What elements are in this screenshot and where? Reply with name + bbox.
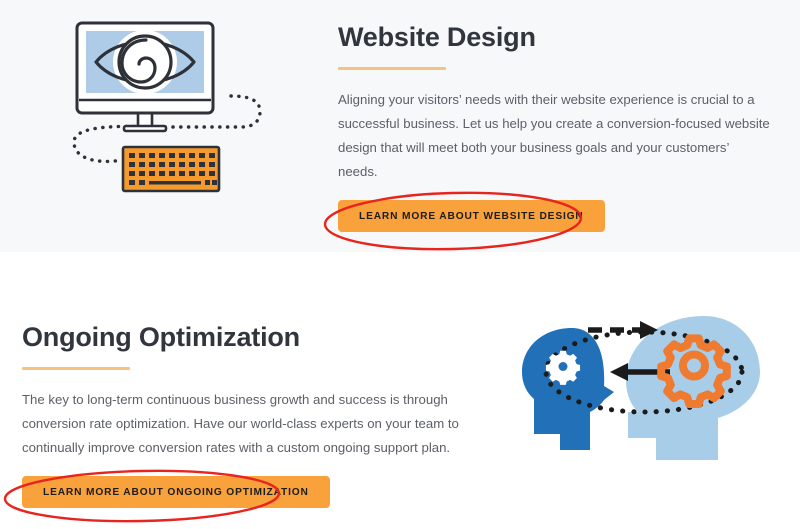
learn-more-ongoing-optimization-button[interactable]: Learn More About Ongoing Optimization [22,476,330,508]
learn-more-website-design-button[interactable]: Learn More About Website Design [338,200,605,232]
head-dark-blue [522,328,614,450]
accent-rule [22,367,130,370]
services-page: Website Design Aligning your visitors’ n… [0,0,800,484]
cta-wrap-website-design: Learn More About Website Design [338,200,605,232]
monitor-stand-base [124,126,166,131]
accent-rule [338,67,446,70]
monitor-eye-keyboard-illustration [60,8,292,198]
website-design-text-block: Website Design Aligning your visitors’ n… [338,20,770,232]
page-title-website-design: Website Design [338,20,770,54]
body-copy-website-design: Aligning your visitors’ needs with their… [338,88,770,184]
page-title-ongoing-optimization: Ongoing Optimization [22,320,462,354]
body-copy-ongoing-optimization: The key to long-term continuous business… [22,388,462,460]
cta-wrap-ongoing-optimization: Learn More About Ongoing Optimization [22,476,330,508]
gear-white-icon [546,351,580,385]
two-heads-gears-illustration [508,300,788,476]
section-website-design: Website Design Aligning your visitors’ n… [0,0,800,252]
ongoing-optimization-text-block: Ongoing Optimization The key to long-ter… [22,320,462,508]
